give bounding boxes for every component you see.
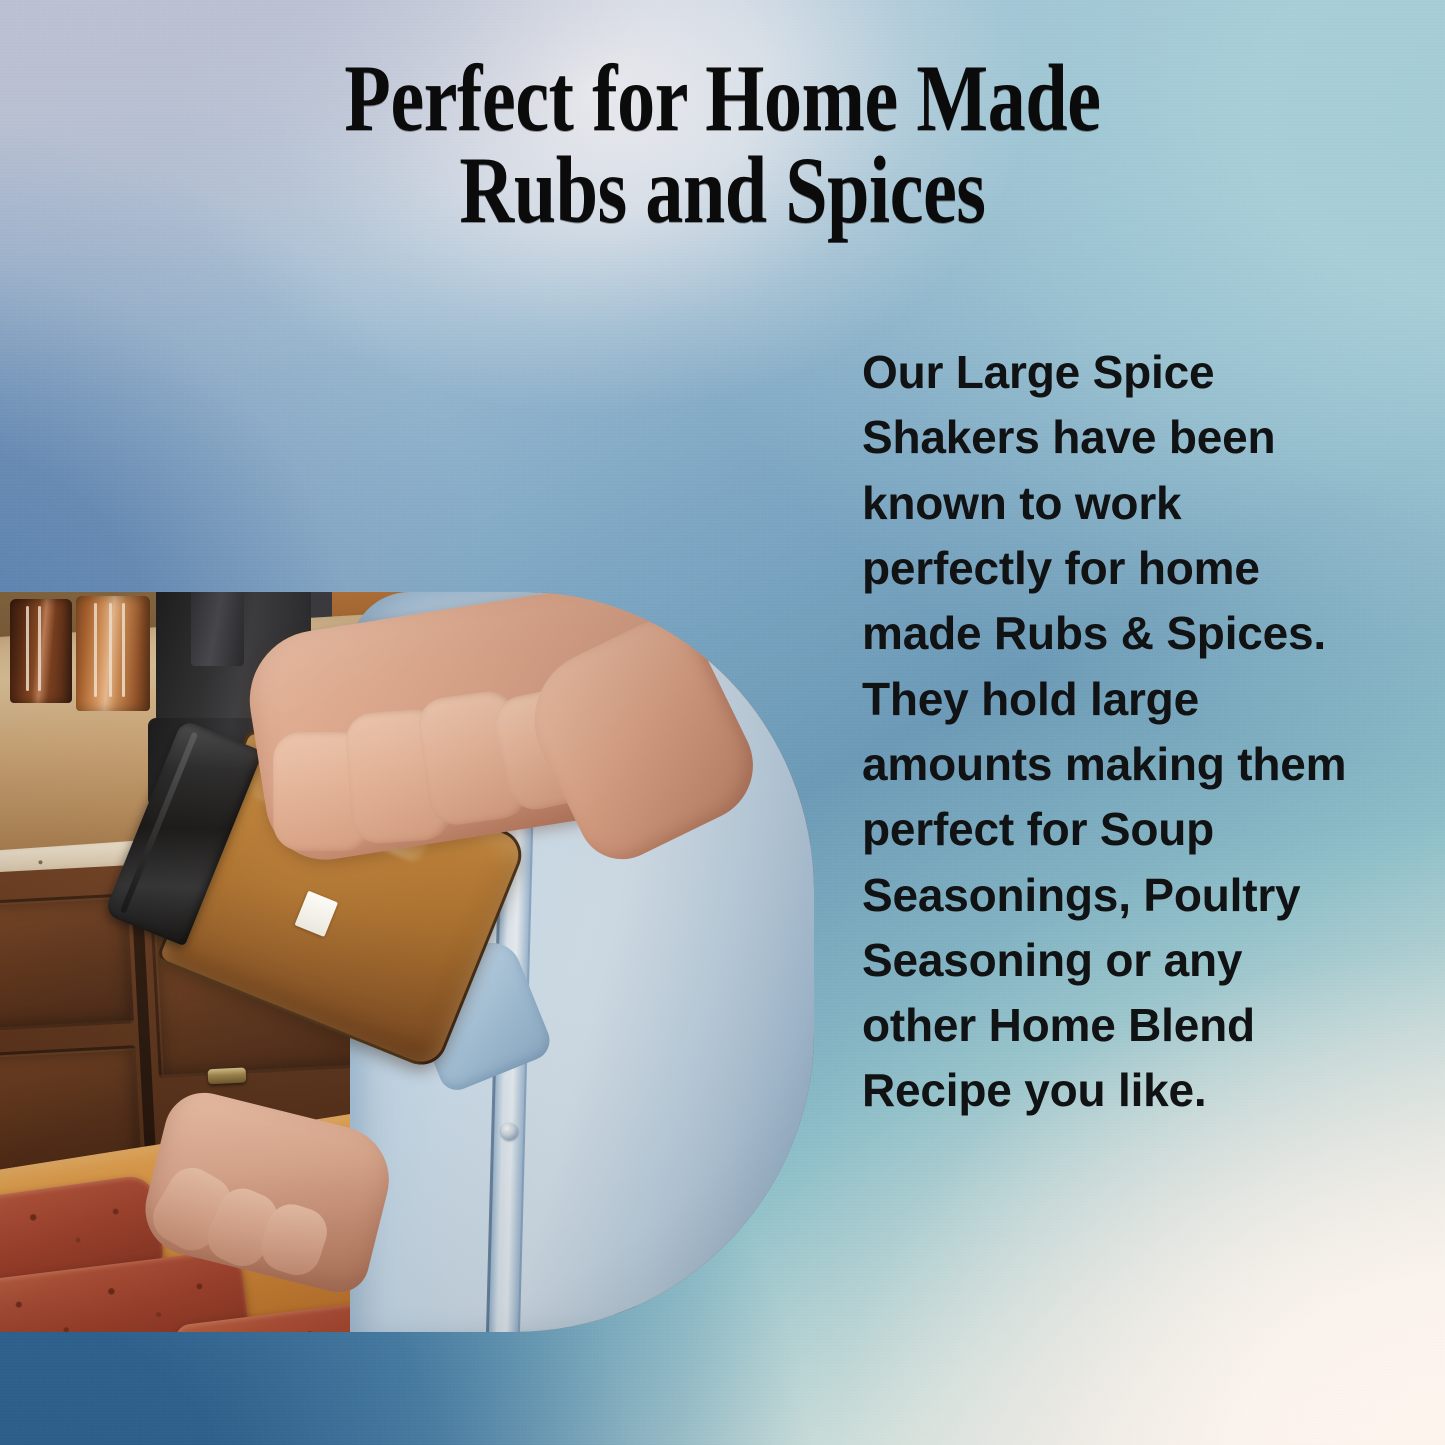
brass-door-knob [207,1068,246,1085]
appliance-neck [191,592,244,666]
product-photo [0,592,814,1332]
spice-jar-dark [10,599,72,703]
shirt-button [501,1123,518,1140]
kitchen-scene-image [0,592,814,1332]
page-title: Perfect for Home Made Rubs and Spices [145,52,1301,236]
promo-graphic: Perfect for Home Made Rubs and Spices [0,0,1445,1445]
spice-jar-amber [76,596,150,711]
product-description: Our Large Spice Shakers have been known … [862,340,1362,1124]
